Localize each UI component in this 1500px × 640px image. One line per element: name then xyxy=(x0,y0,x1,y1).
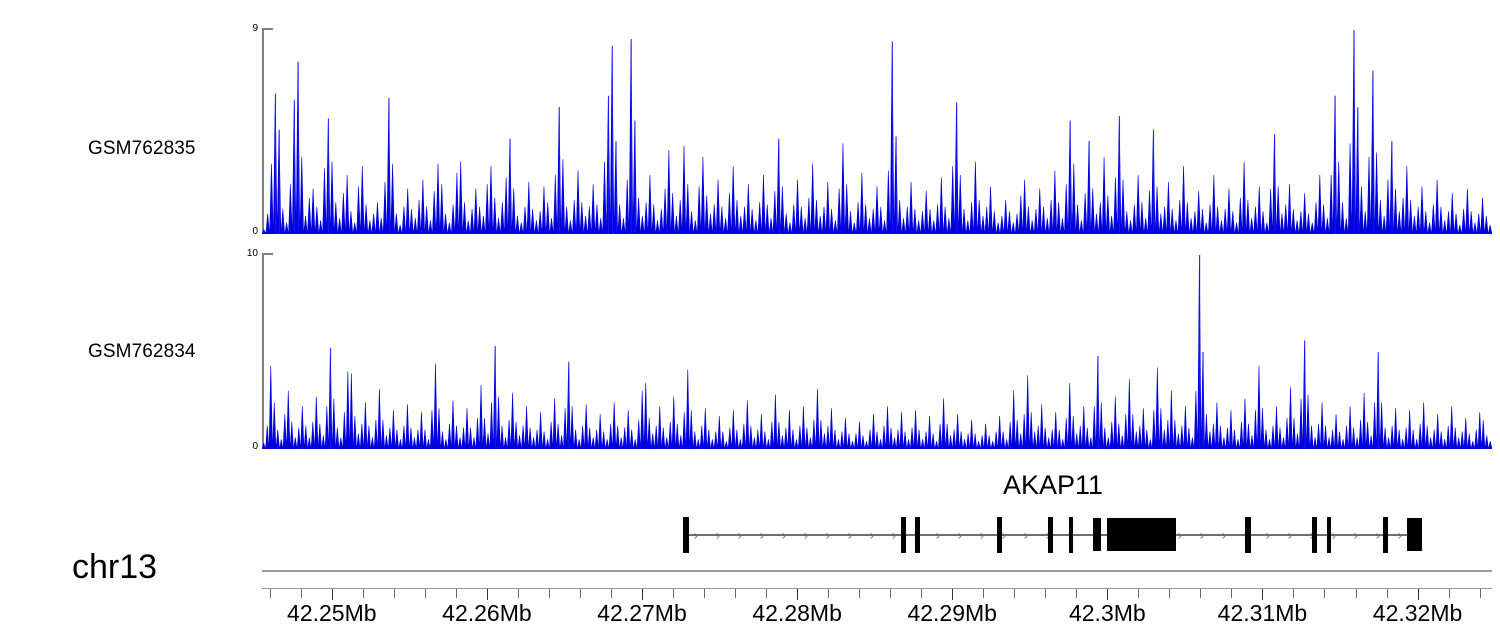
y-tick-label-max: 10 xyxy=(247,249,258,259)
strand-arrow-icon: › xyxy=(1332,529,1336,542)
exon[interactable] xyxy=(1107,518,1175,551)
axis-tick-major xyxy=(952,589,953,600)
strand-arrow-icon: › xyxy=(980,529,984,542)
strand-arrow-icon: › xyxy=(892,529,896,542)
axis-tick-minor xyxy=(735,589,736,598)
axis-tick-minor xyxy=(394,589,395,598)
axis-tick-minor xyxy=(425,589,426,598)
axis-tick-minor xyxy=(301,589,302,598)
exon[interactable] xyxy=(1245,517,1250,553)
strand-arrow-icon: › xyxy=(738,529,742,542)
axis-tick-minor xyxy=(270,589,271,598)
axis-tick-minor xyxy=(1449,589,1450,598)
axis-tick-label: 42.29Mb xyxy=(907,600,997,627)
axis-tick-minor xyxy=(1480,589,1481,598)
strand-arrow-icon: › xyxy=(804,529,808,542)
gene-model-akap11[interactable]: ››››››››››››››››››››››››››››› xyxy=(0,510,1500,560)
exon[interactable] xyxy=(1048,517,1053,553)
axis-tick-label: 42.3Mb xyxy=(1069,600,1146,627)
strand-arrow-icon: › xyxy=(848,529,852,542)
strand-arrow-icon: › xyxy=(1178,529,1182,542)
exon[interactable] xyxy=(1407,518,1422,551)
gene-name-label: AKAP11 xyxy=(1003,470,1103,501)
axis-tick-minor xyxy=(1200,589,1201,598)
axis-tick-minor xyxy=(1138,589,1139,598)
strand-arrow-icon: › xyxy=(826,529,830,542)
exon[interactable] xyxy=(1327,517,1332,553)
strand-arrow-icon: › xyxy=(936,529,940,542)
axis-tick-minor xyxy=(890,589,891,598)
axis-tick-label: 42.26Mb xyxy=(442,600,532,627)
axis-tick-major xyxy=(797,589,798,600)
axis-tick-minor xyxy=(580,589,581,598)
track-label-gsm762834: GSM762834 xyxy=(88,341,196,363)
axis-tick-major xyxy=(1418,589,1419,600)
axis-tick-minor xyxy=(611,589,612,598)
axis-tick-minor xyxy=(859,589,860,598)
signal-path xyxy=(262,255,1492,449)
gene-annotation-track: AKAP11 ››››››››››››››››››››››››››››› xyxy=(0,470,1500,580)
signal-area-gsm762835 xyxy=(262,28,1492,234)
axis-tick-label: 42.32Mb xyxy=(1373,600,1463,627)
axis-tick-minor xyxy=(518,589,519,598)
y-tick-label-zero: 0 xyxy=(252,442,258,452)
strand-arrow-icon: › xyxy=(870,529,874,542)
axis-tick-label: 42.28Mb xyxy=(752,600,842,627)
signal-path xyxy=(262,30,1492,234)
axis-tick-major xyxy=(332,589,333,600)
signal-track-gsm762835: GSM762835 9 0 xyxy=(0,28,1500,234)
strand-arrow-icon: › xyxy=(782,529,786,542)
signal-plot-gsm762834: 10 0 xyxy=(262,253,1492,449)
axis-tick-minor xyxy=(1356,589,1357,598)
strand-arrow-icon: › xyxy=(760,529,764,542)
strand-arrow-icon: › xyxy=(1024,529,1028,542)
axis-tick-minor xyxy=(1324,589,1325,598)
axis-tick-minor xyxy=(549,589,550,598)
axis-tick-major xyxy=(642,589,643,600)
signal-plot-gsm762835: 9 0 xyxy=(262,28,1492,234)
axis-tick-minor xyxy=(828,589,829,598)
strand-arrow-icon: › xyxy=(694,529,698,542)
axis-tick-minor xyxy=(1169,589,1170,598)
strand-arrow-icon: › xyxy=(1266,529,1270,542)
exon[interactable] xyxy=(1383,517,1388,553)
exon[interactable] xyxy=(1312,517,1317,553)
axis-tick-minor xyxy=(1076,589,1077,598)
axis-tick-minor xyxy=(983,589,984,598)
genome-browser: GSM762835 9 0 GSM762834 10 xyxy=(0,0,1500,640)
strand-arrow-icon: › xyxy=(1200,529,1204,542)
exon[interactable] xyxy=(1093,518,1102,551)
axis-tick-minor xyxy=(456,589,457,598)
exon[interactable] xyxy=(915,517,920,553)
exon[interactable] xyxy=(901,517,905,553)
axis-tick-minor xyxy=(363,589,364,598)
axis-tick-minor xyxy=(1387,589,1388,598)
strand-arrow-icon: › xyxy=(1354,529,1358,542)
strand-arrow-icon: › xyxy=(716,529,720,542)
axis-tick-minor xyxy=(1293,589,1294,598)
y-tick-label-zero: 0 xyxy=(252,227,258,237)
axis-tick-minor xyxy=(673,589,674,598)
axis-tick-label: 42.31Mb xyxy=(1218,600,1308,627)
axis-tick-minor xyxy=(704,589,705,598)
genomic-coordinate-axis[interactable]: 42.25Mb42.26Mb42.27Mb42.28Mb42.29Mb42.3M… xyxy=(262,570,1492,640)
strand-arrow-icon: › xyxy=(1002,529,1006,542)
signal-highlight xyxy=(276,30,1392,234)
chromosome-label: chr13 xyxy=(72,548,157,587)
axis-tick-minor xyxy=(921,589,922,598)
axis-tick-minor xyxy=(1231,589,1232,598)
y-tick-label-max: 9 xyxy=(252,24,258,34)
strand-arrow-icon: › xyxy=(1222,529,1226,542)
signal-track-gsm762834: GSM762834 10 0 xyxy=(0,253,1500,449)
axis-tick-major xyxy=(1262,589,1263,600)
strand-arrow-icon: › xyxy=(1376,529,1380,542)
axis-tick-minor xyxy=(1014,589,1015,598)
axis-base-rule xyxy=(262,588,1492,589)
strand-arrow-icon: › xyxy=(1398,529,1402,542)
strand-arrow-icon: › xyxy=(958,529,962,542)
axis-tick-label: 42.27Mb xyxy=(597,600,687,627)
exon[interactable] xyxy=(683,517,688,553)
exon[interactable] xyxy=(997,517,1002,553)
exon[interactable] xyxy=(1069,517,1074,553)
axis-tick-minor xyxy=(1045,589,1046,598)
signal-area-gsm762834 xyxy=(262,253,1492,449)
axis-top-rule xyxy=(262,570,1492,572)
strand-arrow-icon: › xyxy=(1288,529,1292,542)
axis-tick-label: 42.25Mb xyxy=(287,600,377,627)
signal-highlight xyxy=(331,255,1379,449)
axis-tick-major xyxy=(1107,589,1108,600)
axis-tick-major xyxy=(487,589,488,600)
track-label-gsm762835: GSM762835 xyxy=(88,138,196,160)
axis-tick-minor xyxy=(766,589,767,598)
